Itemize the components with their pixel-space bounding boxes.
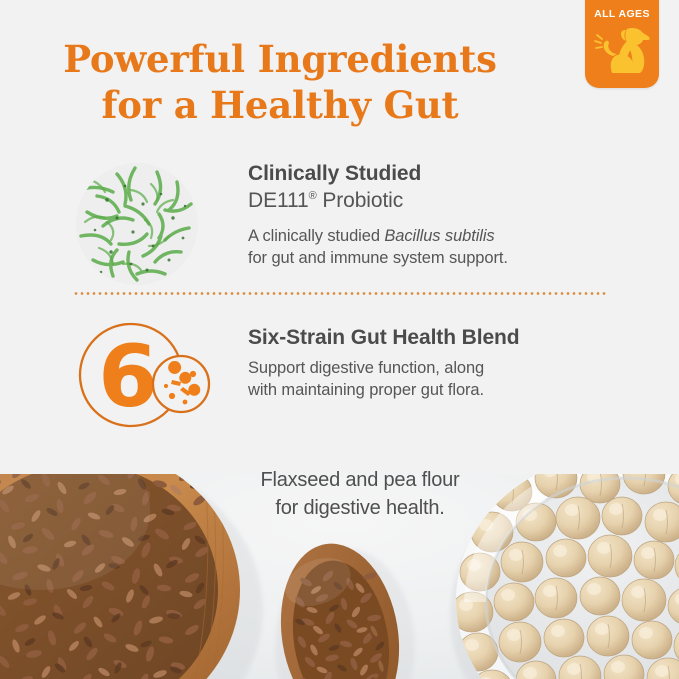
bottom-caption-line-2: for digestive health. <box>150 494 570 522</box>
feature-2-heading-bold: Six-Strain Gut Health Blend <box>248 324 613 351</box>
feature-1-heading-regular: DE111® Probiotic <box>248 187 613 215</box>
feature-1-product-suffix: Probiotic <box>317 189 404 212</box>
bottom-caption-line-1: Flaxseed and pea flour <box>150 466 570 494</box>
bacteria-microscopy-icon <box>73 160 201 288</box>
feature-clinically-studied-text: Clinically Studied DE111® Probiotic A cl… <box>248 160 613 269</box>
feature-1-body-pre: A clinically studied <box>248 227 384 245</box>
feature-1-heading-bold: Clinically Studied <box>248 160 613 187</box>
feature-1-body-line-2: for gut and immune system support. <box>248 247 613 269</box>
feature-2-body-line-1: Support digestive function, along <box>248 357 613 379</box>
feature-1-species-name: Bacillus subtilis <box>384 227 494 245</box>
six-strain-microbe-icon-wrap: 6 <box>73 318 248 441</box>
all-ages-badge-label: ALL AGES <box>585 8 659 20</box>
divider-1 <box>73 292 606 295</box>
all-ages-badge: ALL AGES <box>585 0 659 88</box>
feature-2-body: Support digestive function, along with m… <box>248 357 613 401</box>
registered-trademark-icon: ® <box>309 190 317 202</box>
feature-2-body-line-2: with maintaining proper gut flora. <box>248 379 613 401</box>
feature-1-body: A clinically studied Bacillus subtilis f… <box>248 225 613 269</box>
page-title: Powerful Ingredients for a Healthy Gut <box>0 36 560 128</box>
six-strain-microbe-icon: 6 <box>73 318 213 436</box>
page-title-line-1: Powerful Ingredients <box>0 36 560 82</box>
feature-1-product-name: DE111 <box>248 189 309 212</box>
feature-six-strain: 6 Six-Strain Gut Health Blend Suppor <box>73 318 613 441</box>
page-title-line-2: for a Healthy Gut <box>0 82 560 128</box>
feature-1-body-line-1: A clinically studied Bacillus subtilis <box>248 225 613 247</box>
six-strain-number: 6 <box>98 327 158 427</box>
feature-clinically-studied: Clinically Studied DE111® Probiotic A cl… <box>73 160 613 293</box>
sitting-dog-icon <box>593 23 651 75</box>
feature-six-strain-text: Six-Strain Gut Health Blend Support dige… <box>248 318 613 401</box>
infographic-page: ALL AGES Powerful <box>0 0 679 679</box>
bacteria-microscopy-icon-wrap <box>73 160 248 293</box>
bottom-caption: Flaxseed and pea flour for digestive hea… <box>150 466 570 522</box>
